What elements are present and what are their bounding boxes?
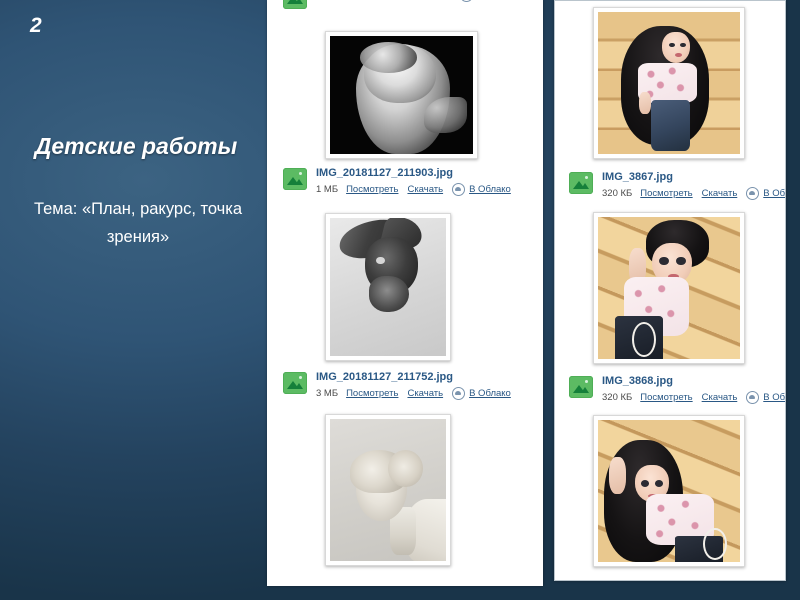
left-screenshot-panel: 640 КБ Посмотреть Скачать В Облако xyxy=(267,0,543,586)
image-file-icon xyxy=(569,172,593,194)
slide-number: 2 xyxy=(30,14,42,38)
thumbnail-cherub-statue[interactable] xyxy=(325,31,478,159)
file-size: 1 МБ xyxy=(316,184,338,195)
file-actions: 3 МБ Посмотреть Скачать В Облако xyxy=(316,387,520,400)
file-meta: IMG_3868.jpg 320 КБ Посмотреть Скачать В… xyxy=(602,375,786,404)
cloud-link[interactable]: В Облако xyxy=(763,392,786,403)
file-row[interactable]: IMG_20181127_211752.jpg 3 МБ Посмотреть … xyxy=(283,371,520,400)
file-actions: 320 КБ Посмотреть Скачать В Облако xyxy=(602,187,786,200)
view-link[interactable]: Посмотреть xyxy=(346,388,398,399)
download-link[interactable]: Скачать xyxy=(407,184,443,195)
file-meta: IMG_3867.jpg 320 КБ Посмотреть Скачать В… xyxy=(602,171,786,200)
thumbnail-doll-lying[interactable] xyxy=(593,415,745,567)
slide-title: Детские работы xyxy=(0,133,272,160)
cloud-upload-icon xyxy=(746,187,759,200)
cloud-upload-icon xyxy=(746,391,759,404)
file-actions: 320 КБ Посмотреть Скачать В Облако xyxy=(602,391,786,404)
file-size: 320 КБ xyxy=(602,392,632,403)
view-link[interactable]: Посмотреть xyxy=(346,184,398,195)
cloud-link[interactable]: В Облако xyxy=(763,188,786,199)
image-file-icon xyxy=(283,372,307,394)
file-meta: IMG_20181127_211903.jpg 1 МБ Посмотреть … xyxy=(316,167,520,196)
download-link[interactable]: Скачать xyxy=(702,188,738,199)
cloud-action[interactable]: В Облако xyxy=(460,0,528,2)
view-link[interactable]: Посмотреть xyxy=(640,392,692,403)
file-actions: 1 МБ Посмотреть Скачать В Облако xyxy=(316,183,520,196)
file-actions: 640 КБ Посмотреть Скачать В Облако xyxy=(316,0,528,2)
view-link[interactable]: Посмотреть xyxy=(354,0,406,1)
slide-subtitle: Тема: «План, ракурс, точка зрения» xyxy=(4,195,272,251)
image-file-icon xyxy=(283,0,307,9)
cloud-upload-icon xyxy=(452,183,465,196)
file-row[interactable]: IMG_3867.jpg 320 КБ Посмотреть Скачать В… xyxy=(569,171,786,200)
cloud-upload-icon xyxy=(452,387,465,400)
cloud-link[interactable]: В Облако xyxy=(477,0,519,1)
download-link[interactable]: Скачать xyxy=(702,392,738,403)
file-meta: 640 КБ Посмотреть Скачать В Облако xyxy=(316,0,528,2)
download-link[interactable]: Скачать xyxy=(407,388,443,399)
cloud-upload-icon xyxy=(460,0,473,2)
cloud-link[interactable]: В Облако xyxy=(469,388,511,399)
file-row[interactable]: IMG_3868.jpg 320 КБ Посмотреть Скачать В… xyxy=(569,375,786,404)
view-link[interactable]: Посмотреть xyxy=(640,188,692,199)
file-size: 3 МБ xyxy=(316,388,338,399)
cloud-link[interactable]: В Облако xyxy=(469,184,511,195)
download-link[interactable]: Скачать xyxy=(416,0,452,1)
thumbnail-elephant-figurine[interactable] xyxy=(325,213,451,361)
file-name: IMG_3867.jpg xyxy=(602,171,786,184)
cloud-action[interactable]: В Облако xyxy=(746,187,786,200)
file-row[interactable]: 640 КБ Посмотреть Скачать В Облако xyxy=(283,0,528,9)
file-meta: IMG_20181127_211752.jpg 3 МБ Посмотреть … xyxy=(316,371,520,400)
image-file-icon xyxy=(569,376,593,398)
thumbnail-doll-with-hat[interactable] xyxy=(593,7,745,159)
cloud-action[interactable]: В Облако xyxy=(452,387,520,400)
image-file-icon xyxy=(283,168,307,190)
thumbnail-doll-closeup[interactable] xyxy=(593,212,745,364)
presentation-slide: 2 Детские работы Тема: «План, ракурс, то… xyxy=(0,0,800,600)
file-row[interactable]: IMG_20181127_211903.jpg 1 МБ Посмотреть … xyxy=(283,167,520,196)
file-size: 320 КБ xyxy=(602,188,632,199)
file-size: 640 КБ xyxy=(316,0,346,1)
cloud-action[interactable]: В Облако xyxy=(452,183,520,196)
file-name: IMG_3868.jpg xyxy=(602,375,786,388)
cloud-action[interactable]: В Облако xyxy=(746,391,786,404)
right-screenshot-panel: IMG_3867.jpg 320 КБ Посмотреть Скачать В… xyxy=(554,0,786,581)
file-name: IMG_20181127_211903.jpg xyxy=(316,167,520,180)
thumbnail-cherub-head[interactable] xyxy=(325,414,451,566)
file-name: IMG_20181127_211752.jpg xyxy=(316,371,520,384)
